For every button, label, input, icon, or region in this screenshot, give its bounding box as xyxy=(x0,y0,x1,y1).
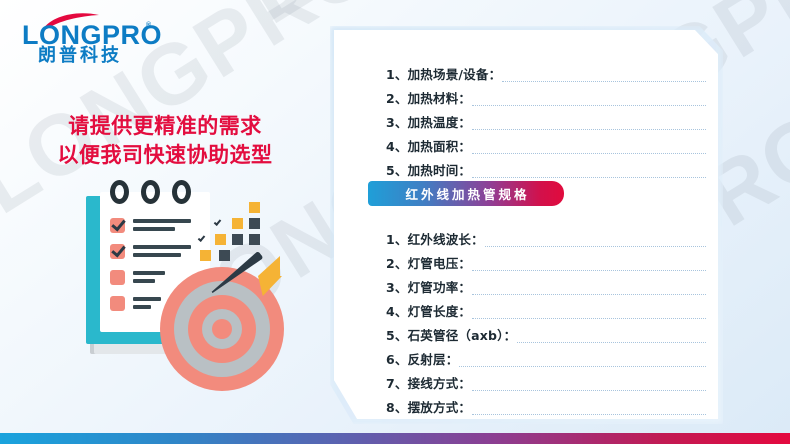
list-item-number: 8、 xyxy=(386,399,408,416)
list-item[interactable]: 2、 灯管电压： xyxy=(386,248,706,272)
list-item-label: 摆放方式： xyxy=(408,399,472,416)
checkbox-checked xyxy=(110,244,125,259)
fill-in-line[interactable] xyxy=(472,377,706,391)
spiral-ring-icon xyxy=(172,180,191,204)
list-item-label: 加热材料： xyxy=(408,90,472,107)
fill-in-line[interactable] xyxy=(459,353,706,367)
list-item-label: 石英管径（axb）： xyxy=(408,327,517,344)
list-item-label: 加热面积： xyxy=(408,138,472,155)
decorative-square-yellow xyxy=(200,250,211,261)
page-title: 请提供更精准的需求 以便我司快速协助选型 xyxy=(0,112,330,170)
decorative-square-gray xyxy=(219,250,230,261)
list-item[interactable]: 3、 加热温度： xyxy=(386,107,706,131)
decorative-square-gray xyxy=(232,234,243,245)
fill-in-line[interactable] xyxy=(472,116,706,130)
watermark-text: LONGPRO xyxy=(540,0,790,14)
fill-in-line[interactable] xyxy=(502,68,706,82)
list-item[interactable]: 5、 加热时间： xyxy=(386,155,706,179)
list-item-number: 6、 xyxy=(386,351,408,368)
list-item-number: 3、 xyxy=(386,114,408,131)
headline-line-1: 请提供更精准的需求 xyxy=(0,112,330,141)
list-item-label: 加热场景/设备： xyxy=(408,66,502,83)
list-item-label: 灯管电压： xyxy=(408,255,472,272)
fill-in-line[interactable] xyxy=(472,401,706,415)
list-item-number: 5、 xyxy=(386,327,408,344)
list-item[interactable]: 2、 加热材料： xyxy=(386,83,706,107)
checkbox-checked xyxy=(110,218,125,233)
logo-chinese-name: 朗普科技 xyxy=(38,47,122,65)
headline-line-2: 以便我司快速协助选型 xyxy=(0,141,330,170)
list-item-label: 红外线波长： xyxy=(408,231,484,248)
list-item-label: 接线方式： xyxy=(408,375,472,392)
list-item-number: 4、 xyxy=(386,138,408,155)
checklist-target-illustration xyxy=(62,192,312,397)
list-item-number: 7、 xyxy=(386,375,408,392)
fill-in-line[interactable] xyxy=(472,92,706,106)
paper-line xyxy=(133,219,191,223)
list-item-label: 反射层： xyxy=(408,351,459,368)
logo-registered-mark: ® xyxy=(146,22,151,29)
list-item-number: 3、 xyxy=(386,279,408,296)
paper-line xyxy=(133,227,175,231)
list-item[interactable]: 1、 红外线波长： xyxy=(386,224,706,248)
list-item-label: 灯管功率： xyxy=(408,279,472,296)
paper-line xyxy=(133,253,181,257)
list-item-number: 2、 xyxy=(386,255,408,272)
fill-in-line[interactable] xyxy=(472,257,706,271)
decorative-square-gray xyxy=(249,234,260,245)
list-item[interactable]: 5、 石英管径（axb）： xyxy=(386,320,706,344)
paper-line xyxy=(133,245,191,249)
check-icon xyxy=(214,218,222,226)
slide-canvas: LONGPRO LONGPRO LONGPRO LONGPRO LONGPRO … xyxy=(0,0,790,444)
checkbox-empty xyxy=(110,270,125,285)
list-item-number: 1、 xyxy=(386,66,408,83)
fill-in-line[interactable] xyxy=(472,140,706,154)
list-item[interactable]: 8、 摆放方式： xyxy=(386,392,706,416)
spiral-ring-icon xyxy=(141,180,160,204)
fill-in-line[interactable] xyxy=(472,164,706,178)
footer-gradient-bar xyxy=(0,433,790,444)
requirements-panel: 1、 加热场景/设备： 2、 加热材料： 3、 加热温度： 4、 加热面积： 5… xyxy=(334,30,718,419)
fill-in-line[interactable] xyxy=(517,329,706,343)
requirements-list-bottom: 1、 红外线波长： 2、 灯管电压： 3、 灯管功率： 4、 灯管长度： 5、 xyxy=(386,224,706,416)
paper-line xyxy=(133,271,165,275)
fill-in-line[interactable] xyxy=(472,305,706,319)
check-icon xyxy=(111,216,125,231)
list-item-label: 加热时间： xyxy=(408,162,472,179)
section-banner-title: 红外线加热管规格 xyxy=(402,184,529,203)
brand-logo: LONGPRO ® 朗普科技 xyxy=(22,14,157,66)
list-item-label: 加热温度： xyxy=(408,114,472,131)
list-item[interactable]: 6、 反射层： xyxy=(386,344,706,368)
fill-in-line[interactable] xyxy=(472,281,706,295)
list-item-number: 2、 xyxy=(386,90,408,107)
paper-line xyxy=(133,305,151,309)
list-item[interactable]: 3、 灯管功率： xyxy=(386,272,706,296)
decorative-square-gray xyxy=(249,218,260,229)
paper-line xyxy=(133,279,155,283)
list-item-number: 5、 xyxy=(386,162,408,179)
requirements-list-top: 1、 加热场景/设备： 2、 加热材料： 3、 加热温度： 4、 加热面积： 5… xyxy=(386,59,706,179)
paper-line xyxy=(133,297,161,301)
list-item[interactable]: 7、 接线方式： xyxy=(386,368,706,392)
section-banner: 红外线加热管规格 xyxy=(368,181,564,206)
spiral-ring-icon xyxy=(110,180,129,204)
target-bullseye xyxy=(212,319,232,339)
fill-in-line[interactable] xyxy=(485,233,706,247)
checkbox-empty xyxy=(110,296,125,311)
decorative-square-yellow xyxy=(215,234,226,245)
list-item[interactable]: 4、 灯管长度： xyxy=(386,296,706,320)
decorative-square-yellow xyxy=(232,218,243,229)
list-item-number: 4、 xyxy=(386,303,408,320)
list-item[interactable]: 1、 加热场景/设备： xyxy=(386,59,706,83)
list-item-label: 灯管长度： xyxy=(408,303,472,320)
decorative-square-yellow xyxy=(249,202,260,213)
list-item-number: 1、 xyxy=(386,231,408,248)
check-icon xyxy=(111,242,125,257)
list-item[interactable]: 4、 加热面积： xyxy=(386,131,706,155)
